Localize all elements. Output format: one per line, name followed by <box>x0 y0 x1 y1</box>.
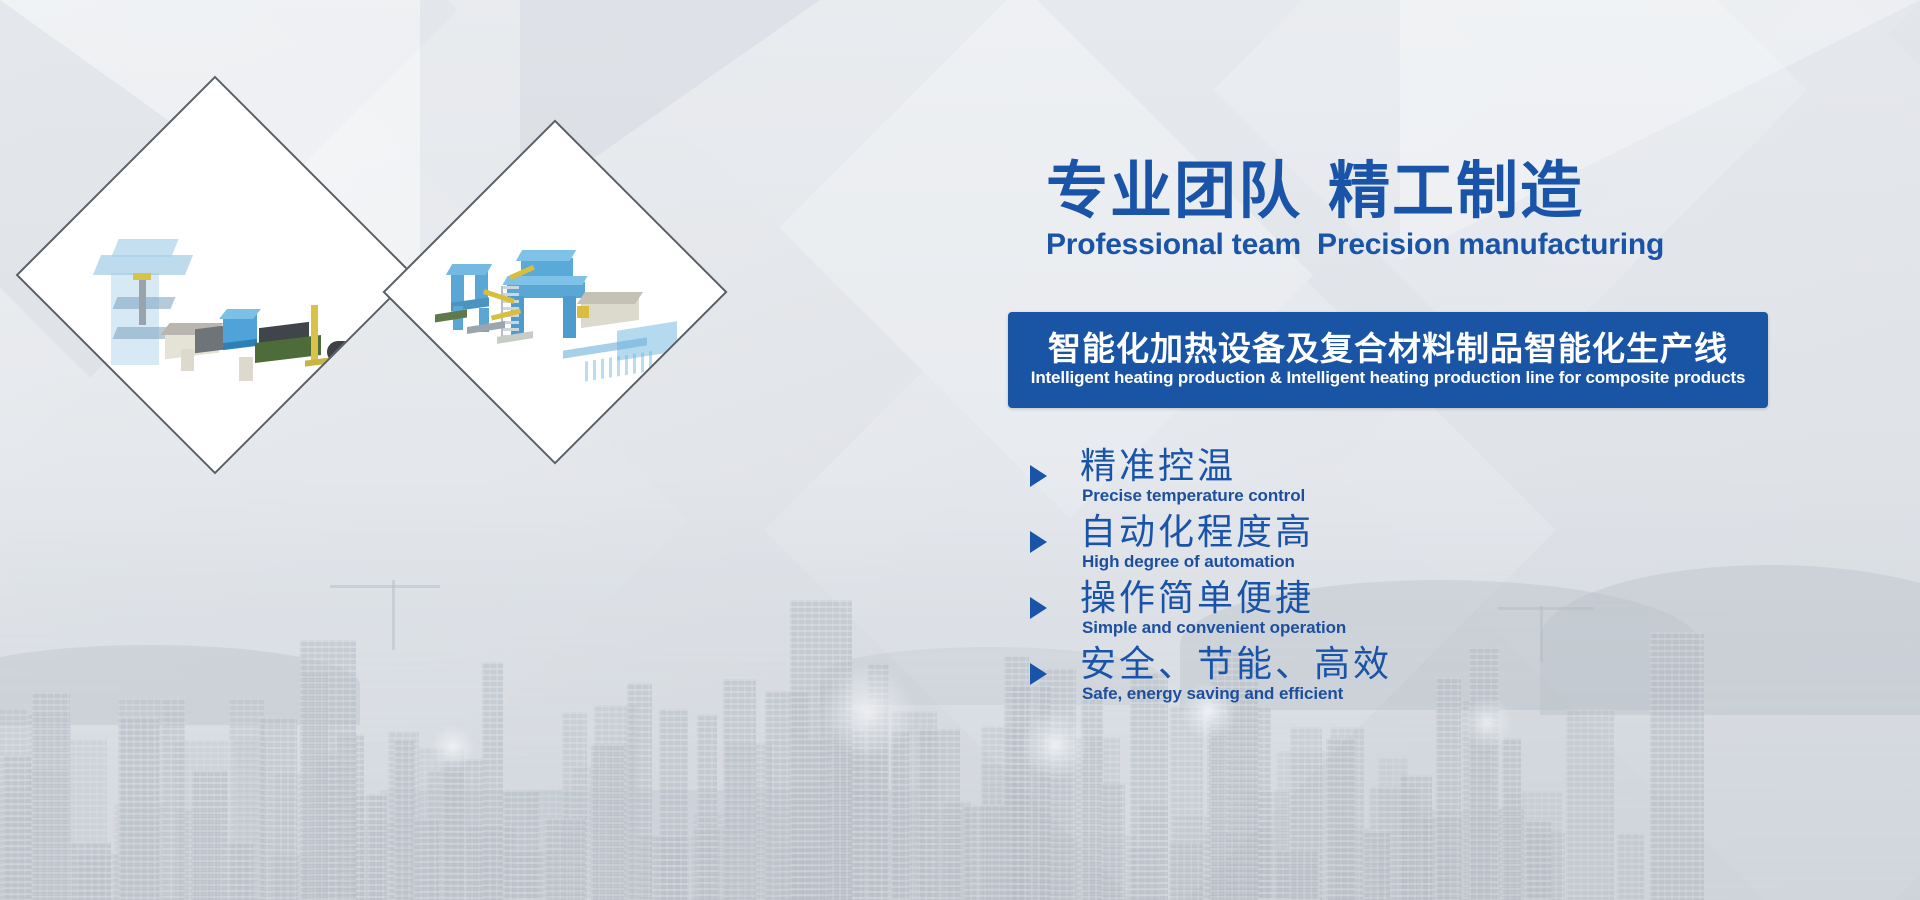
building <box>228 842 253 900</box>
building <box>545 818 585 900</box>
crane-jib-icon <box>330 585 440 588</box>
crane-mast-icon <box>392 580 395 650</box>
light-flare <box>430 724 476 770</box>
building <box>70 842 111 900</box>
product-title-chinese: 智能化加热设备及复合材料制品智能化生产线 <box>1048 322 1728 370</box>
building <box>192 770 228 900</box>
control-box <box>181 349 194 371</box>
yellow-drive <box>577 306 589 318</box>
building <box>3 755 31 900</box>
product-title-english: Intelligent heating production & Intelli… <box>1031 368 1746 388</box>
triangle-right-icon <box>1030 531 1047 553</box>
triangle-right-icon <box>1030 597 1047 619</box>
triangle-right-icon <box>1030 465 1047 487</box>
feature-label-en: Safe, energy saving and efficient <box>1082 684 1343 704</box>
building <box>723 679 756 900</box>
building <box>163 698 186 900</box>
feature-label-en: Simple and convenient operation <box>1082 618 1346 638</box>
building <box>443 759 483 900</box>
press-head-top <box>516 250 576 261</box>
building <box>627 683 652 900</box>
building <box>891 730 909 900</box>
hydraulic-fitting <box>133 273 151 280</box>
headline-block: 专业团队精工制造 Professional teamPrecision manu… <box>1046 160 1664 262</box>
feature-label-cn: 安全、节能、高效 <box>1080 644 1392 685</box>
winder-top <box>577 292 643 304</box>
press-leg <box>563 296 576 338</box>
building <box>119 717 159 900</box>
press-ram <box>139 279 146 325</box>
press-upper-block <box>111 239 178 257</box>
headline-cn-left: 专业团队 <box>1046 154 1302 227</box>
yellow-post <box>311 305 318 363</box>
building <box>503 790 539 900</box>
promo-banner: 专业团队精工制造 Professional teamPrecision manu… <box>0 0 1920 900</box>
headline-en-left: Professional team <box>1046 228 1301 261</box>
building <box>482 662 503 900</box>
landmark-tower <box>300 640 356 900</box>
light-flare <box>820 664 916 760</box>
feature-label-cn: 自动化程度高 <box>1080 512 1314 553</box>
feature-label-cn: 精准控温 <box>1080 446 1236 487</box>
gantry-beam <box>446 264 492 275</box>
roller-conveyor <box>467 321 505 334</box>
headline-en-right: Precision manufacturing <box>1317 228 1664 261</box>
building <box>394 739 413 900</box>
building <box>368 794 387 900</box>
building <box>659 709 688 900</box>
feature-label-cn: 操作简单便捷 <box>1080 578 1314 619</box>
building <box>918 729 960 900</box>
press-column <box>111 273 159 365</box>
gantry-column <box>451 270 464 304</box>
building <box>697 714 717 900</box>
building <box>591 744 624 900</box>
control-box <box>239 357 253 381</box>
building <box>259 717 297 900</box>
feature-label-en: Precise temperature control <box>1082 486 1305 506</box>
triangle-right-icon <box>1030 663 1047 685</box>
headline-cn-right: 精工制造 <box>1328 154 1584 227</box>
building <box>32 692 70 900</box>
building <box>963 805 1005 900</box>
building <box>413 819 439 900</box>
text-content-column: 专业团队精工制造 Professional teamPrecision manu… <box>1008 0 1920 900</box>
headline-english: Professional teamPrecision manufacturing <box>1046 228 1664 262</box>
headline-chinese: 专业团队精工制造 <box>1046 160 1664 222</box>
product-title-bar: 智能化加热设备及复合材料制品智能化生产线 Intelligent heating… <box>1008 312 1768 408</box>
feature-label-en: High degree of automation <box>1082 552 1295 572</box>
